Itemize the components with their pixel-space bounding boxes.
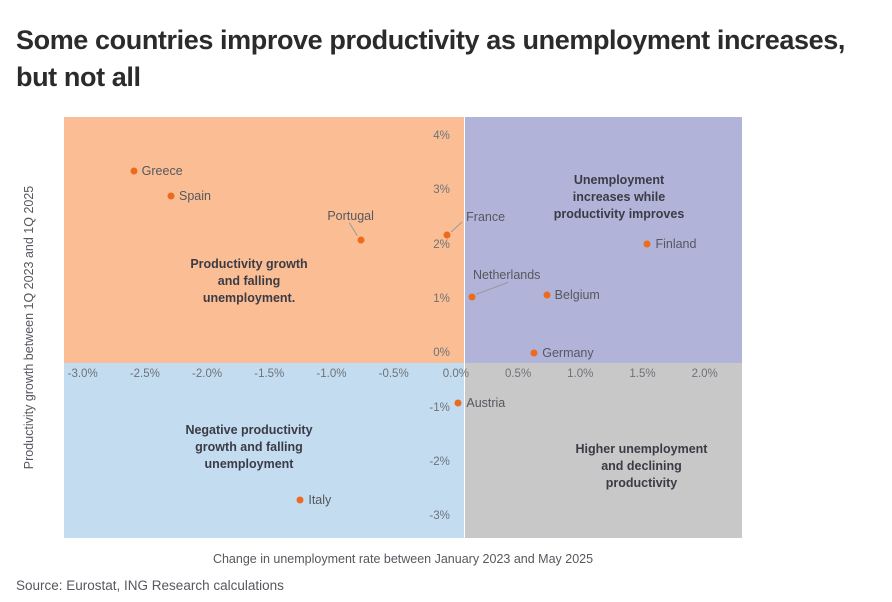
data-point-finland[interactable] bbox=[644, 240, 651, 247]
scatter-plot-area: Productivity growth and falling unemploy… bbox=[64, 117, 742, 538]
x-axis-title: Change in unemployment rate between Janu… bbox=[64, 552, 742, 566]
data-point-label-portugal: Portugal bbox=[327, 209, 374, 223]
data-point-label-greece: Greece bbox=[142, 164, 183, 178]
data-point-france[interactable] bbox=[444, 231, 451, 238]
data-point-italy[interactable] bbox=[297, 496, 304, 503]
data-point-greece[interactable] bbox=[130, 168, 137, 175]
data-point-label-spain: Spain bbox=[179, 189, 211, 203]
data-point-label-finland: Finland bbox=[655, 237, 696, 251]
data-point-germany[interactable] bbox=[531, 350, 538, 357]
data-point-netherlands[interactable] bbox=[469, 294, 476, 301]
data-point-label-germany: Germany bbox=[542, 346, 593, 360]
data-point-label-italy: Italy bbox=[308, 493, 331, 507]
data-point-austria[interactable] bbox=[455, 400, 462, 407]
y-axis-title: Productivity growth between 1Q 2023 and … bbox=[22, 117, 38, 538]
data-point-label-netherlands: Netherlands bbox=[473, 268, 540, 282]
data-point-belgium[interactable] bbox=[543, 291, 550, 298]
leader-lines bbox=[64, 117, 742, 538]
data-point-label-austria: Austria bbox=[466, 396, 505, 410]
data-point-label-france: France bbox=[466, 210, 505, 224]
data-point-spain[interactable] bbox=[167, 192, 174, 199]
data-point-portugal[interactable] bbox=[358, 236, 365, 243]
page-title: Some countries improve productivity as u… bbox=[16, 22, 886, 97]
source-note: Source: Eurostat, ING Research calculati… bbox=[16, 578, 284, 593]
data-point-label-belgium: Belgium bbox=[555, 288, 600, 302]
